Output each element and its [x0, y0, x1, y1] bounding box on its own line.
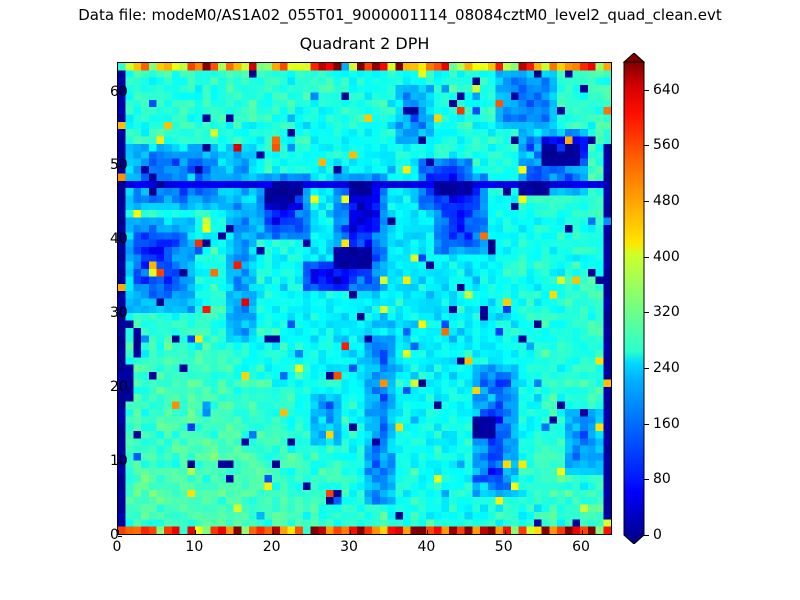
colorbar[interactable]: 080160240320400480560640 — [624, 62, 644, 535]
y-tick-label: 50 — [110, 157, 128, 173]
colorbar-tick-label: 80 — [653, 471, 671, 487]
x-tick — [273, 530, 274, 534]
heatmap-image — [118, 63, 611, 534]
y-tick-label: 0 — [110, 527, 119, 543]
y-tick-label: 40 — [110, 231, 128, 247]
colorbar-gradient — [622, 53, 646, 544]
y-tick-label: 10 — [110, 453, 128, 469]
colorbar-tick — [644, 145, 649, 146]
colorbar-tick-label: 480 — [653, 193, 680, 209]
x-tick — [582, 530, 583, 534]
x-tick-label: 10 — [185, 539, 203, 555]
x-tick-label: 30 — [340, 539, 358, 555]
y-tick-label: 20 — [110, 379, 128, 395]
y-tick-label: 60 — [110, 84, 128, 100]
y-tick-label: 30 — [110, 305, 128, 321]
figure-canvas: Data file: modeM0/AS1A02_055T01_90000011… — [0, 0, 800, 600]
colorbar-tick — [644, 368, 649, 369]
x-tick-label: 20 — [263, 539, 281, 555]
colorbar-tick-label: 640 — [653, 82, 680, 98]
colorbar-tick-label: 240 — [653, 360, 680, 376]
x-tick-label: 40 — [417, 539, 435, 555]
colorbar-tick — [644, 257, 649, 258]
x-tick — [195, 530, 196, 534]
colorbar-tick — [644, 312, 649, 313]
x-tick-label: 50 — [495, 539, 513, 555]
plot-title: Quadrant 2 DPH — [117, 34, 612, 53]
colorbar-tick — [644, 201, 649, 202]
x-tick — [505, 530, 506, 534]
colorbar-tick-label: 160 — [653, 416, 680, 432]
data-file-suptitle: Data file: modeM0/AS1A02_055T01_90000011… — [0, 6, 800, 24]
x-tick — [350, 530, 351, 534]
heatmap-axes[interactable] — [117, 62, 612, 535]
colorbar-tick — [644, 535, 649, 536]
colorbar-tick — [644, 90, 649, 91]
colorbar-tick-label: 0 — [653, 527, 662, 543]
colorbar-tick — [644, 479, 649, 480]
colorbar-tick-label: 400 — [653, 249, 680, 265]
colorbar-tick — [644, 424, 649, 425]
x-tick-label: 60 — [572, 539, 590, 555]
x-tick — [427, 530, 428, 534]
colorbar-tick-label: 560 — [653, 137, 680, 153]
colorbar-tick-label: 320 — [653, 304, 680, 320]
